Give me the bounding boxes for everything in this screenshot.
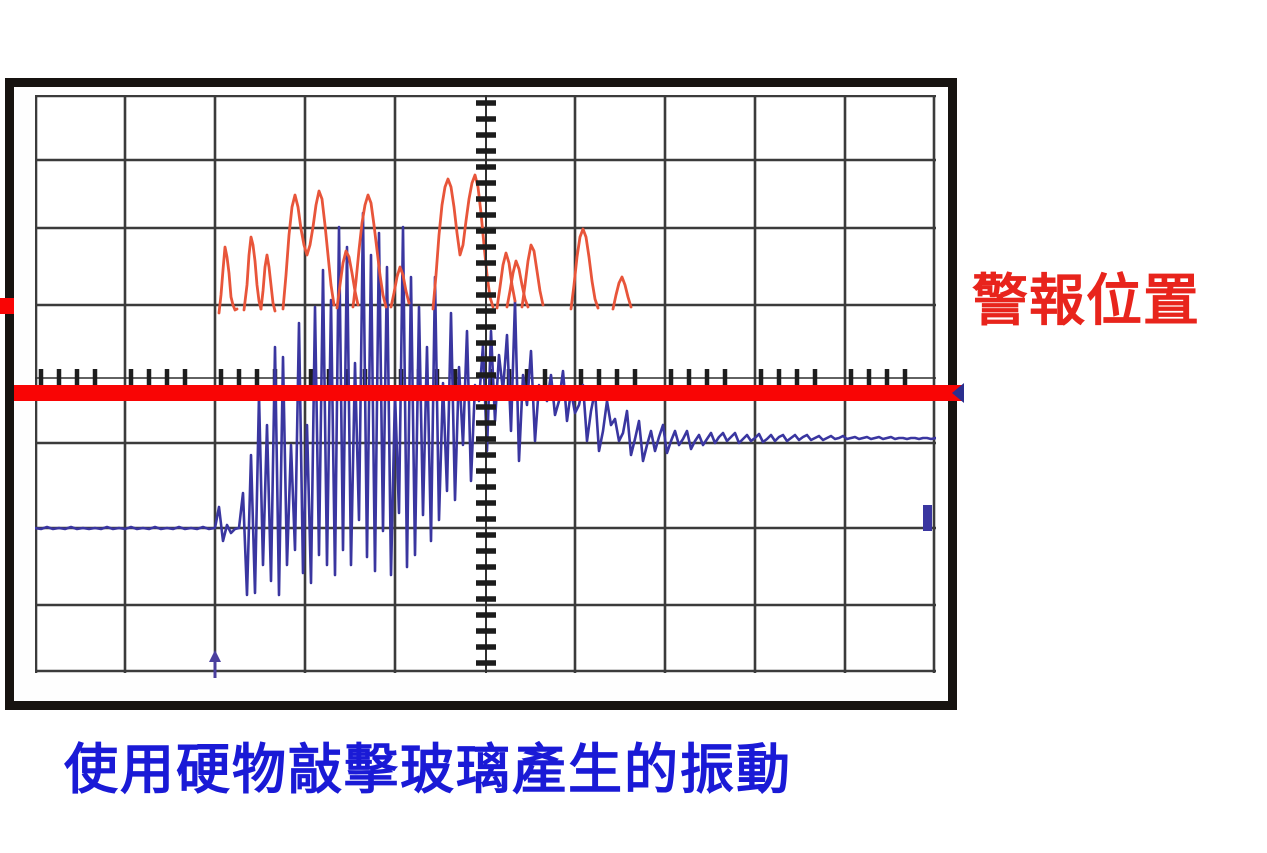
alarm-threshold-line-left-overhang bbox=[0, 298, 14, 314]
right-edge-marker bbox=[923, 505, 932, 531]
figure-caption: 使用硬物敲擊玻璃產生的振動 bbox=[64, 737, 792, 803]
trigger-arrow-icon bbox=[207, 650, 223, 678]
alarm-pointer-arrow-icon bbox=[952, 383, 964, 403]
waveform-svg bbox=[35, 95, 936, 673]
alarm-position-label: 警報位置 bbox=[972, 268, 1200, 336]
oscilloscope-frame bbox=[5, 78, 957, 710]
screenshot-root: 警報位置 使用硬物敲擊玻璃產生的振動 bbox=[0, 0, 1267, 853]
oscilloscope-screen bbox=[14, 87, 948, 701]
waveform-plot-area bbox=[35, 95, 936, 673]
alarm-threshold-line[interactable] bbox=[14, 385, 964, 401]
